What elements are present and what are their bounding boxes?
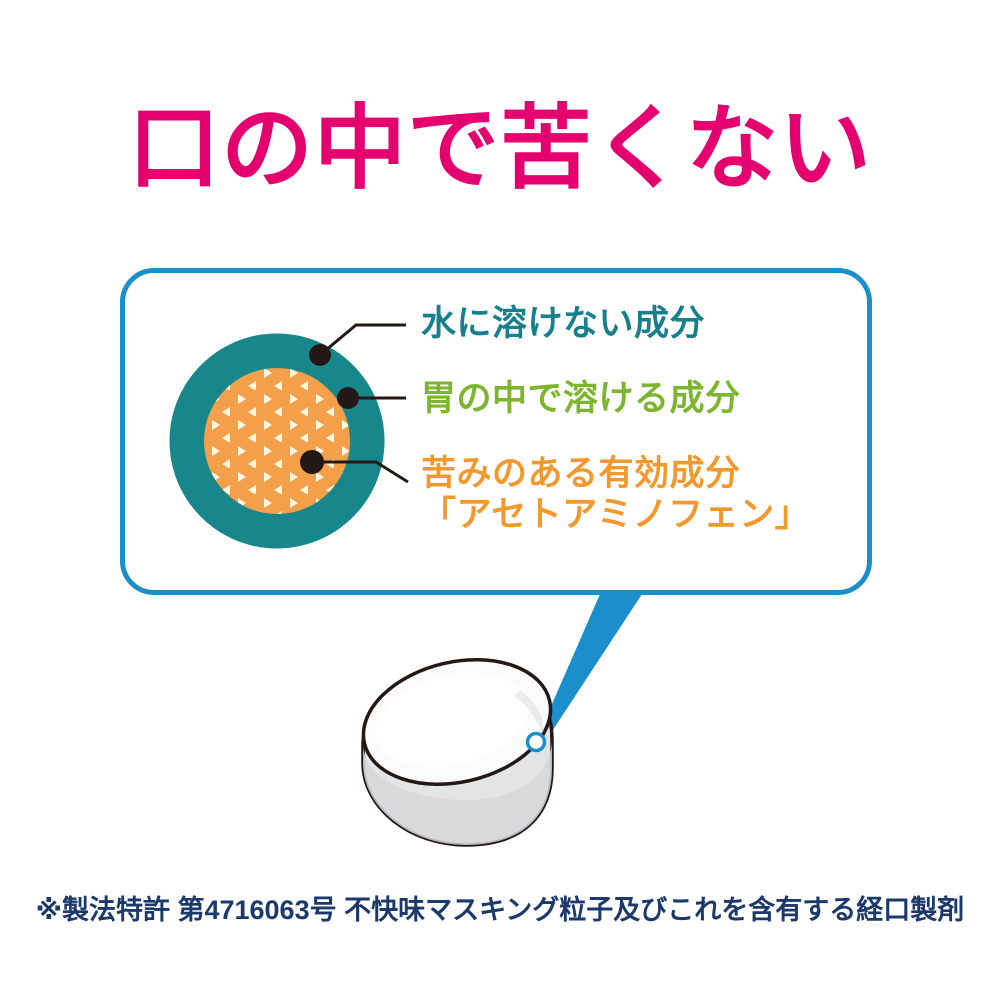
leader-dot-bitter-active — [300, 450, 324, 474]
infographic-canvas: 口の中で苦くない — [0, 0, 1000, 1000]
leader-dot-water-insoluble — [309, 344, 331, 366]
label-bitter-active-line2: 「アセトアミノフェン」 — [421, 494, 810, 535]
label-bitter-active-line1: 苦みのある有効成分 — [421, 454, 741, 493]
active-ingredient-core — [204, 368, 350, 514]
leader-dot-stomach-soluble — [337, 387, 359, 409]
label-water-insoluble: 水に溶けない成分 — [421, 303, 705, 344]
label-stomach-soluble: 胃の中で溶ける成分 — [421, 378, 741, 419]
label-bitter-active: 苦みのある有効成分 「アセトアミノフェン」 — [421, 453, 810, 536]
